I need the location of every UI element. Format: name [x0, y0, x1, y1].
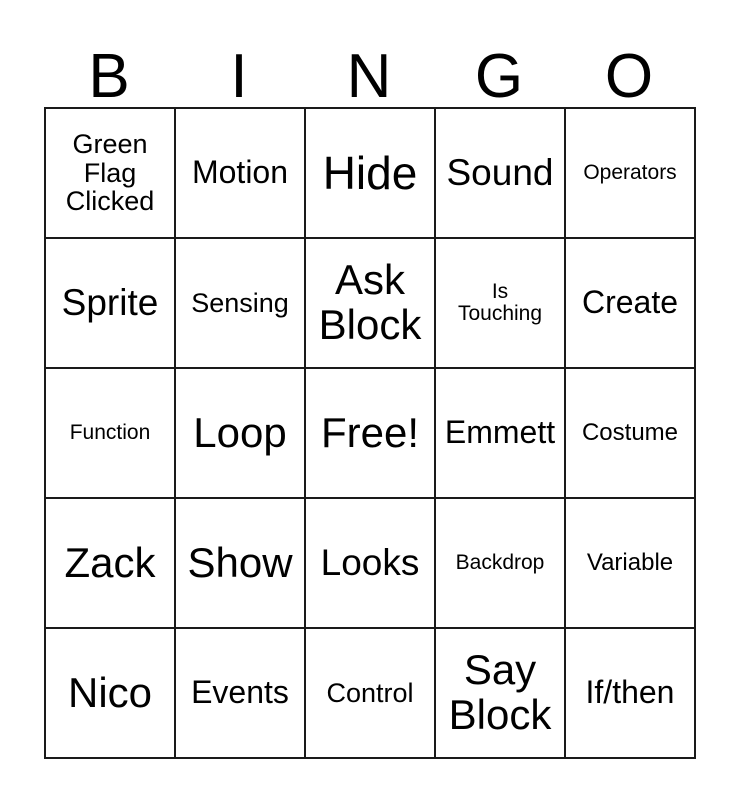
bingo-cell-label: Sensing — [179, 289, 301, 318]
bingo-cell[interactable]: Sensing — [176, 239, 306, 369]
bingo-cell-label: Variable — [569, 550, 691, 575]
bingo-grid: Green Flag ClickedMotionHideSoundOperato… — [44, 107, 696, 759]
bingo-cell-label: Function — [49, 422, 171, 444]
bingo-cell[interactable]: Hide — [306, 109, 436, 239]
bingo-cell-label: Emmett — [439, 416, 561, 450]
bingo-cell-label: Nico — [49, 671, 171, 716]
bingo-cell-label: Show — [179, 541, 301, 586]
bingo-cell-label: Loop — [179, 411, 301, 456]
bingo-cell-label: Operators — [569, 162, 691, 184]
bingo-header-letter-n: N — [304, 48, 434, 107]
bingo-cell-label: Looks — [309, 543, 431, 582]
bingo-header-letter-g: G — [434, 48, 564, 107]
bingo-cell[interactable]: Looks — [306, 499, 436, 629]
bingo-cell[interactable]: Say Block — [436, 629, 566, 759]
bingo-cell[interactable]: If/then — [566, 629, 696, 759]
bingo-card: BINGO Green Flag ClickedMotionHideSoundO… — [0, 0, 736, 800]
bingo-cell-label: Say Block — [439, 648, 561, 737]
bingo-cell-label: Backdrop — [439, 552, 561, 574]
bingo-cell-label: Hide — [309, 149, 431, 198]
bingo-cell-label: Control — [309, 679, 431, 708]
bingo-cell-label: If/then — [569, 676, 691, 710]
bingo-cell[interactable]: Motion — [176, 109, 306, 239]
bingo-cell-label: Is Touching — [439, 281, 561, 326]
bingo-free-space-cell[interactable]: Free! — [306, 369, 436, 499]
bingo-cell-label: Costume — [569, 420, 691, 445]
bingo-header-letter-o: O — [564, 48, 694, 107]
bingo-cell-label: Sprite — [49, 283, 171, 322]
bingo-header-row: BINGO — [44, 20, 694, 107]
bingo-cell-label: Green Flag Clicked — [49, 130, 171, 216]
bingo-cell-label: Free! — [309, 411, 431, 456]
bingo-cell-label: Events — [179, 676, 301, 710]
bingo-cell[interactable]: Backdrop — [436, 499, 566, 629]
bingo-cell[interactable]: Is Touching — [436, 239, 566, 369]
bingo-cell[interactable]: Emmett — [436, 369, 566, 499]
bingo-cell[interactable]: Show — [176, 499, 306, 629]
bingo-cell[interactable]: Nico — [46, 629, 176, 759]
bingo-cell-label: Ask Block — [309, 258, 431, 347]
bingo-header-letter-b: B — [44, 48, 174, 107]
bingo-cell[interactable]: Create — [566, 239, 696, 369]
bingo-cell-label: Create — [569, 286, 691, 320]
bingo-cell[interactable]: Costume — [566, 369, 696, 499]
bingo-header-letter-i: I — [174, 48, 304, 107]
bingo-cell[interactable]: Ask Block — [306, 239, 436, 369]
bingo-cell[interactable]: Events — [176, 629, 306, 759]
bingo-cell[interactable]: Loop — [176, 369, 306, 499]
bingo-cell[interactable]: Sprite — [46, 239, 176, 369]
bingo-cell[interactable]: Operators — [566, 109, 696, 239]
bingo-cell-label: Zack — [49, 541, 171, 586]
bingo-cell[interactable]: Variable — [566, 499, 696, 629]
bingo-cell-label: Sound — [439, 153, 561, 192]
bingo-cell[interactable]: Control — [306, 629, 436, 759]
bingo-cell[interactable]: Sound — [436, 109, 566, 239]
bingo-cell[interactable]: Function — [46, 369, 176, 499]
bingo-cell-label: Motion — [179, 156, 301, 190]
bingo-cell[interactable]: Zack — [46, 499, 176, 629]
bingo-cell[interactable]: Green Flag Clicked — [46, 109, 176, 239]
